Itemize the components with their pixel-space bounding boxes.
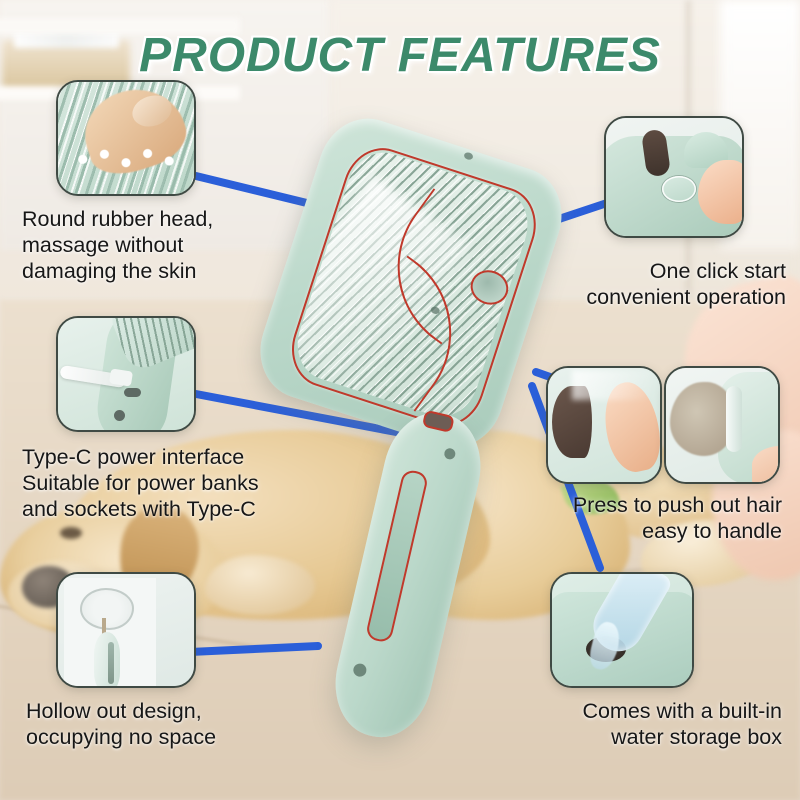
press-button-thumbnail — [546, 366, 662, 484]
infographic-canvas: PRODUCT FEATURES — [0, 0, 800, 800]
page-title: PRODUCT FEATURES — [0, 28, 800, 83]
wall-hook-hanging-thumbnail — [56, 572, 196, 688]
feature-caption-type-c-power: Type-C power interface Suitable for powe… — [22, 444, 352, 522]
feature-caption-water-storage-box: Comes with a built-in water storage box — [478, 698, 782, 750]
handle-hollow-slot — [365, 468, 429, 643]
water-pour-thumbnail — [550, 572, 694, 688]
finger-on-bristles-thumbnail — [56, 80, 196, 196]
feature-caption-one-click-start: One click start convenient operation — [478, 258, 786, 310]
hair-push-out-thumbnail — [664, 366, 780, 484]
type-c-cable-thumbnail — [56, 316, 196, 432]
feature-caption-round-rubber-head: Round rubber head, massage without damag… — [22, 206, 322, 284]
one-click-button-thumbnail — [604, 116, 744, 238]
feature-caption-press-push-hair: Press to push out hair easy to handle — [478, 492, 782, 544]
feature-caption-hollow-out-design: Hollow out design, occupying no space — [26, 698, 326, 750]
